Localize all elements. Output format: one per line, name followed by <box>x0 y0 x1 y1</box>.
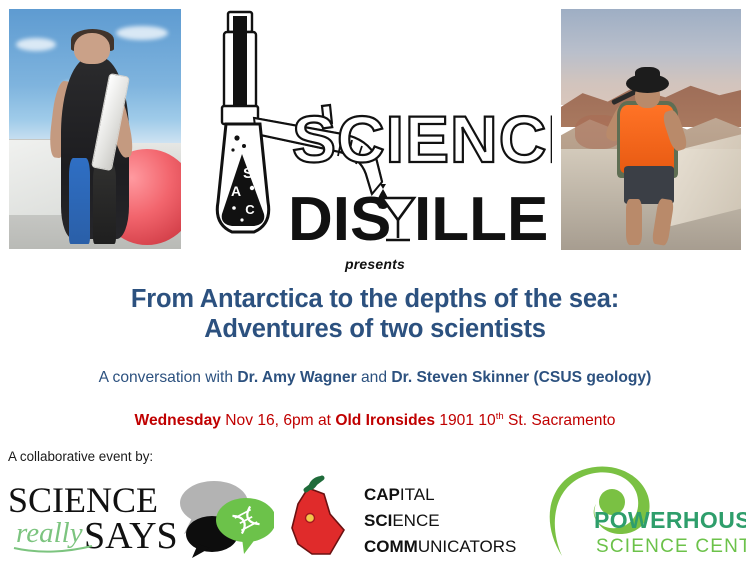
sponsor-logo-science-really-says[interactable]: SCIENCE SAYS really <box>6 476 274 560</box>
event-date-time: Nov 16, 6pm at <box>221 412 335 429</box>
california-pepper-icon <box>292 476 344 554</box>
photo-scientist-diver <box>9 9 181 249</box>
csc-line2-rest: ENCE <box>392 511 439 530</box>
speakers-joiner: and <box>357 369 392 386</box>
speaker-two-name: Dr. Steven Skinner (CSUS geology) <box>391 369 651 386</box>
csc-line1-rest: ITAL <box>400 485 435 504</box>
event-details-line: Wednesday Nov 16, 6pm at Old Ironsides 1… <box>0 411 750 430</box>
logo-word-illed: ILLED <box>414 185 552 251</box>
sponsor1-word-says: SAYS <box>84 515 178 557</box>
wetsuit-leg-blue <box>69 158 90 244</box>
csc-line3-bold: COMM <box>364 537 418 556</box>
svg-text:CAPITAL: CAPITAL <box>364 485 435 504</box>
sponsor1-word-really: really <box>16 517 83 549</box>
sponsor1-word-science: SCIENCE <box>8 480 158 520</box>
title-line-2: Adventures of two scientists <box>0 314 750 344</box>
cloud-icon <box>16 38 56 51</box>
csc-line1-bold: CAP <box>364 485 400 504</box>
csc-line3-rest: UNICATORS <box>418 537 517 556</box>
science-distilled-logo: S A C SCIENCE DIS ILLED <box>192 6 552 251</box>
speakers-line: A conversation with Dr. Amy Wagner and D… <box>0 369 750 387</box>
title-line-1: From Antarctica to the depths of the sea… <box>0 284 750 314</box>
presents-label: presents <box>0 256 750 272</box>
svg-text:SCIENCE: SCIENCE <box>364 511 440 530</box>
logo-word-dis: DIS <box>288 185 391 251</box>
wetsuit-leg-black <box>93 163 115 245</box>
page-title: From Antarctica to the depths of the sea… <box>0 284 750 344</box>
phs-line-powerhouse: POWERHOUSE <box>594 507 746 533</box>
photo-geologist-field <box>561 9 741 250</box>
sponsor-logo-powerhouse-science-center[interactable]: POWERHOUSE SCIENCE CENTER <box>540 464 746 562</box>
sponsor-logo-capital-science-communicators[interactable]: CAPITAL SCIENCE COMMUNICATORS <box>278 474 528 560</box>
speakers-prefix: A conversation with <box>99 369 238 386</box>
speaker-one-name: Dr. Amy Wagner <box>237 369 356 386</box>
collaborative-label: A collaborative event by: <box>8 449 153 464</box>
event-address-post: St. Sacramento <box>504 412 616 429</box>
phs-line-science-center: SCIENCE CENTER <box>596 536 746 557</box>
flask-letter-s: S <box>243 165 253 182</box>
cloud-icon <box>116 26 168 40</box>
leg-left <box>626 199 642 245</box>
event-address-pre: 1901 10 <box>435 412 496 429</box>
face <box>74 33 110 64</box>
event-address-ordinal: th <box>496 411 504 422</box>
logo-word-science: SCIENCE <box>292 102 552 176</box>
flask-letter-c: C <box>245 202 255 217</box>
event-venue: Old Ironsides <box>335 412 435 429</box>
event-flyer: S A C SCIENCE DIS ILLED presents From An… <box>0 0 750 562</box>
sponsor-logo-row: SCIENCE SAYS really CAPITAL <box>0 470 750 562</box>
event-day: Wednesday <box>135 412 221 429</box>
flask-letter-a: A <box>231 183 241 199</box>
csc-line2-bold: SCI <box>364 511 392 530</box>
svg-text:COMMUNICATORS: COMMUNICATORS <box>364 537 516 556</box>
